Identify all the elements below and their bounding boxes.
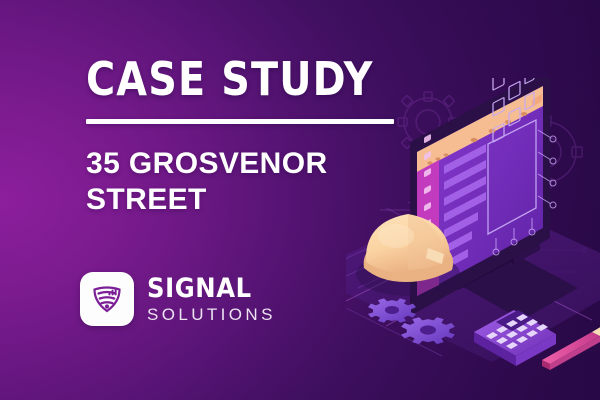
case-study-banner: CASE STUDY 35 GROSVENOR STREET: [0, 0, 600, 400]
page-subtitle: 35 GROSVENOR STREET: [86, 146, 376, 218]
title-divider: [86, 119, 394, 124]
logo-secondary-text: SOLUTIONS: [147, 305, 276, 324]
signal-shield-icon: [80, 272, 134, 326]
logo-primary-text: SIGNAL: [147, 275, 276, 302]
text-block: CASE STUDY 35 GROSVENOR STREET: [86, 54, 416, 218]
logo-wordmark: SIGNAL SOLUTIONS: [147, 275, 276, 324]
brand-logo[interactable]: SIGNAL SOLUTIONS: [80, 272, 276, 326]
page-title: CASE STUDY: [86, 54, 403, 104]
